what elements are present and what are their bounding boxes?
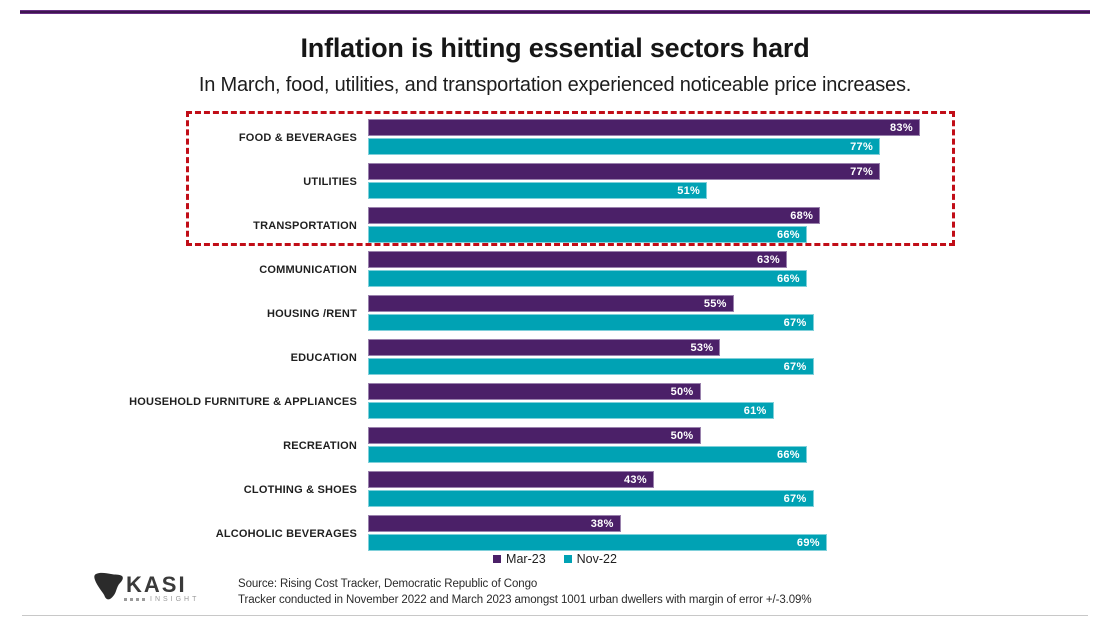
bar-value-label: 68% — [790, 210, 819, 222]
bar-mar-23[interactable]: 55% — [368, 295, 734, 312]
bar-value-label: 77% — [850, 141, 879, 153]
bar-mar-23[interactable]: 77% — [368, 163, 880, 180]
bar-value-label: 43% — [624, 474, 653, 486]
bar-value-label: 66% — [777, 449, 806, 461]
category-bar-group: 63%66% — [368, 250, 1068, 290]
category-label: UTILITIES — [38, 170, 368, 194]
category-label: HOUSING /RENT — [38, 302, 368, 326]
bar-nov-22[interactable]: 67% — [368, 314, 814, 331]
bar-nov-22[interactable]: 61% — [368, 402, 774, 419]
bar-mar-23[interactable]: 50% — [368, 383, 701, 400]
logo-wordmark: KASI — [126, 572, 187, 597]
legend-item[interactable]: Mar-23 — [493, 552, 546, 566]
bar-nov-22[interactable]: 69% — [368, 534, 827, 551]
bar-value-label: 53% — [691, 342, 720, 354]
bar-value-label: 67% — [784, 317, 813, 329]
page-subtitle: In March, food, utilities, and transport… — [0, 74, 1110, 97]
chart-category-row: EDUCATION53%67% — [0, 338, 1110, 378]
bar-value-label: 50% — [671, 386, 700, 398]
chart-category-row: FOOD & BEVERAGES83%77% — [0, 118, 1110, 158]
category-label: TRANSPORTATION — [38, 214, 368, 238]
bar-value-label: 69% — [797, 537, 826, 549]
bar-nov-22[interactable]: 51% — [368, 182, 707, 199]
source-note: Source: Rising Cost Tracker, Democratic … — [238, 576, 811, 608]
bar-chart: FOOD & BEVERAGES83%77%UTILITIES77%51%TRA… — [0, 110, 1110, 550]
legend-item[interactable]: Nov-22 — [564, 552, 617, 566]
bar-value-label: 67% — [784, 361, 813, 373]
legend-label: Nov-22 — [577, 552, 617, 566]
legend-swatch-icon — [564, 555, 572, 563]
category-bar-group: 38%69% — [368, 514, 1068, 554]
bar-mar-23[interactable]: 68% — [368, 207, 820, 224]
category-bar-group: 55%67% — [368, 294, 1068, 334]
bar-mar-23[interactable]: 53% — [368, 339, 720, 356]
bar-mar-23[interactable]: 50% — [368, 427, 701, 444]
category-label: ALCOHOLIC BEVERAGES — [38, 522, 368, 546]
bar-value-label: 38% — [591, 518, 620, 530]
top-accent-rule — [20, 10, 1090, 14]
category-bar-group: 68%66% — [368, 206, 1068, 246]
bar-nov-22[interactable]: 67% — [368, 490, 814, 507]
chart-legend: Mar-23Nov-22 — [0, 552, 1110, 566]
page-title: Inflation is hitting essential sectors h… — [0, 33, 1110, 64]
chart-category-row: CLOTHING & SHOES43%67% — [0, 470, 1110, 510]
source-line-1: Source: Rising Cost Tracker, Democratic … — [238, 576, 811, 592]
category-bar-group: 43%67% — [368, 470, 1068, 510]
bar-value-label: 67% — [784, 493, 813, 505]
chart-category-row: COMMUNICATION63%66% — [0, 250, 1110, 290]
category-bar-group: 50%61% — [368, 382, 1068, 422]
bar-value-label: 51% — [677, 185, 706, 197]
category-label: EDUCATION — [38, 346, 368, 370]
bar-value-label: 66% — [777, 273, 806, 285]
legend-swatch-icon — [493, 555, 501, 563]
category-bar-group: 53%67% — [368, 338, 1068, 378]
bar-mar-23[interactable]: 38% — [368, 515, 621, 532]
bar-mar-23[interactable]: 63% — [368, 251, 787, 268]
category-label: FOOD & BEVERAGES — [38, 126, 368, 150]
logo-graphic: KASI INSIGHT — [86, 568, 226, 608]
category-bar-group: 77%51% — [368, 162, 1068, 202]
category-label: CLOTHING & SHOES — [38, 478, 368, 502]
bar-value-label: 55% — [704, 298, 733, 310]
legend-label: Mar-23 — [506, 552, 546, 566]
chart-category-row: HOUSEHOLD FURNITURE & APPLIANCES50%61% — [0, 382, 1110, 422]
bar-value-label: 77% — [850, 166, 879, 178]
bar-value-label: 61% — [744, 405, 773, 417]
bar-nov-22[interactable]: 67% — [368, 358, 814, 375]
logo-tagline: INSIGHT — [150, 596, 199, 603]
chart-category-row: RECREATION50%66% — [0, 426, 1110, 466]
bottom-hairline — [22, 615, 1088, 616]
chart-category-row: UTILITIES77%51% — [0, 162, 1110, 202]
bar-nov-22[interactable]: 66% — [368, 446, 807, 463]
logo-dots — [124, 598, 145, 601]
bar-nov-22[interactable]: 66% — [368, 226, 807, 243]
chart-category-row: TRANSPORTATION68%66% — [0, 206, 1110, 246]
chart-category-row: ALCOHOLIC BEVERAGES38%69% — [0, 514, 1110, 554]
category-label: COMMUNICATION — [38, 258, 368, 282]
bar-nov-22[interactable]: 77% — [368, 138, 880, 155]
category-bar-group: 83%77% — [368, 118, 1068, 158]
bar-value-label: 50% — [671, 430, 700, 442]
bar-value-label: 63% — [757, 254, 786, 266]
kasi-insight-logo: KASI INSIGHT — [86, 568, 226, 608]
bar-nov-22[interactable]: 66% — [368, 270, 807, 287]
bar-value-label: 66% — [777, 229, 806, 241]
category-label: HOUSEHOLD FURNITURE & APPLIANCES — [38, 390, 368, 414]
category-bar-group: 50%66% — [368, 426, 1068, 466]
chart-category-row: HOUSING /RENT55%67% — [0, 294, 1110, 334]
africa-map-icon — [94, 573, 122, 600]
bar-value-label: 83% — [890, 122, 919, 134]
bar-mar-23[interactable]: 83% — [368, 119, 920, 136]
category-label: RECREATION — [38, 434, 368, 458]
slide-canvas: Inflation is hitting essential sectors h… — [0, 0, 1110, 626]
bar-mar-23[interactable]: 43% — [368, 471, 654, 488]
source-line-2: Tracker conducted in November 2022 and M… — [238, 592, 811, 608]
